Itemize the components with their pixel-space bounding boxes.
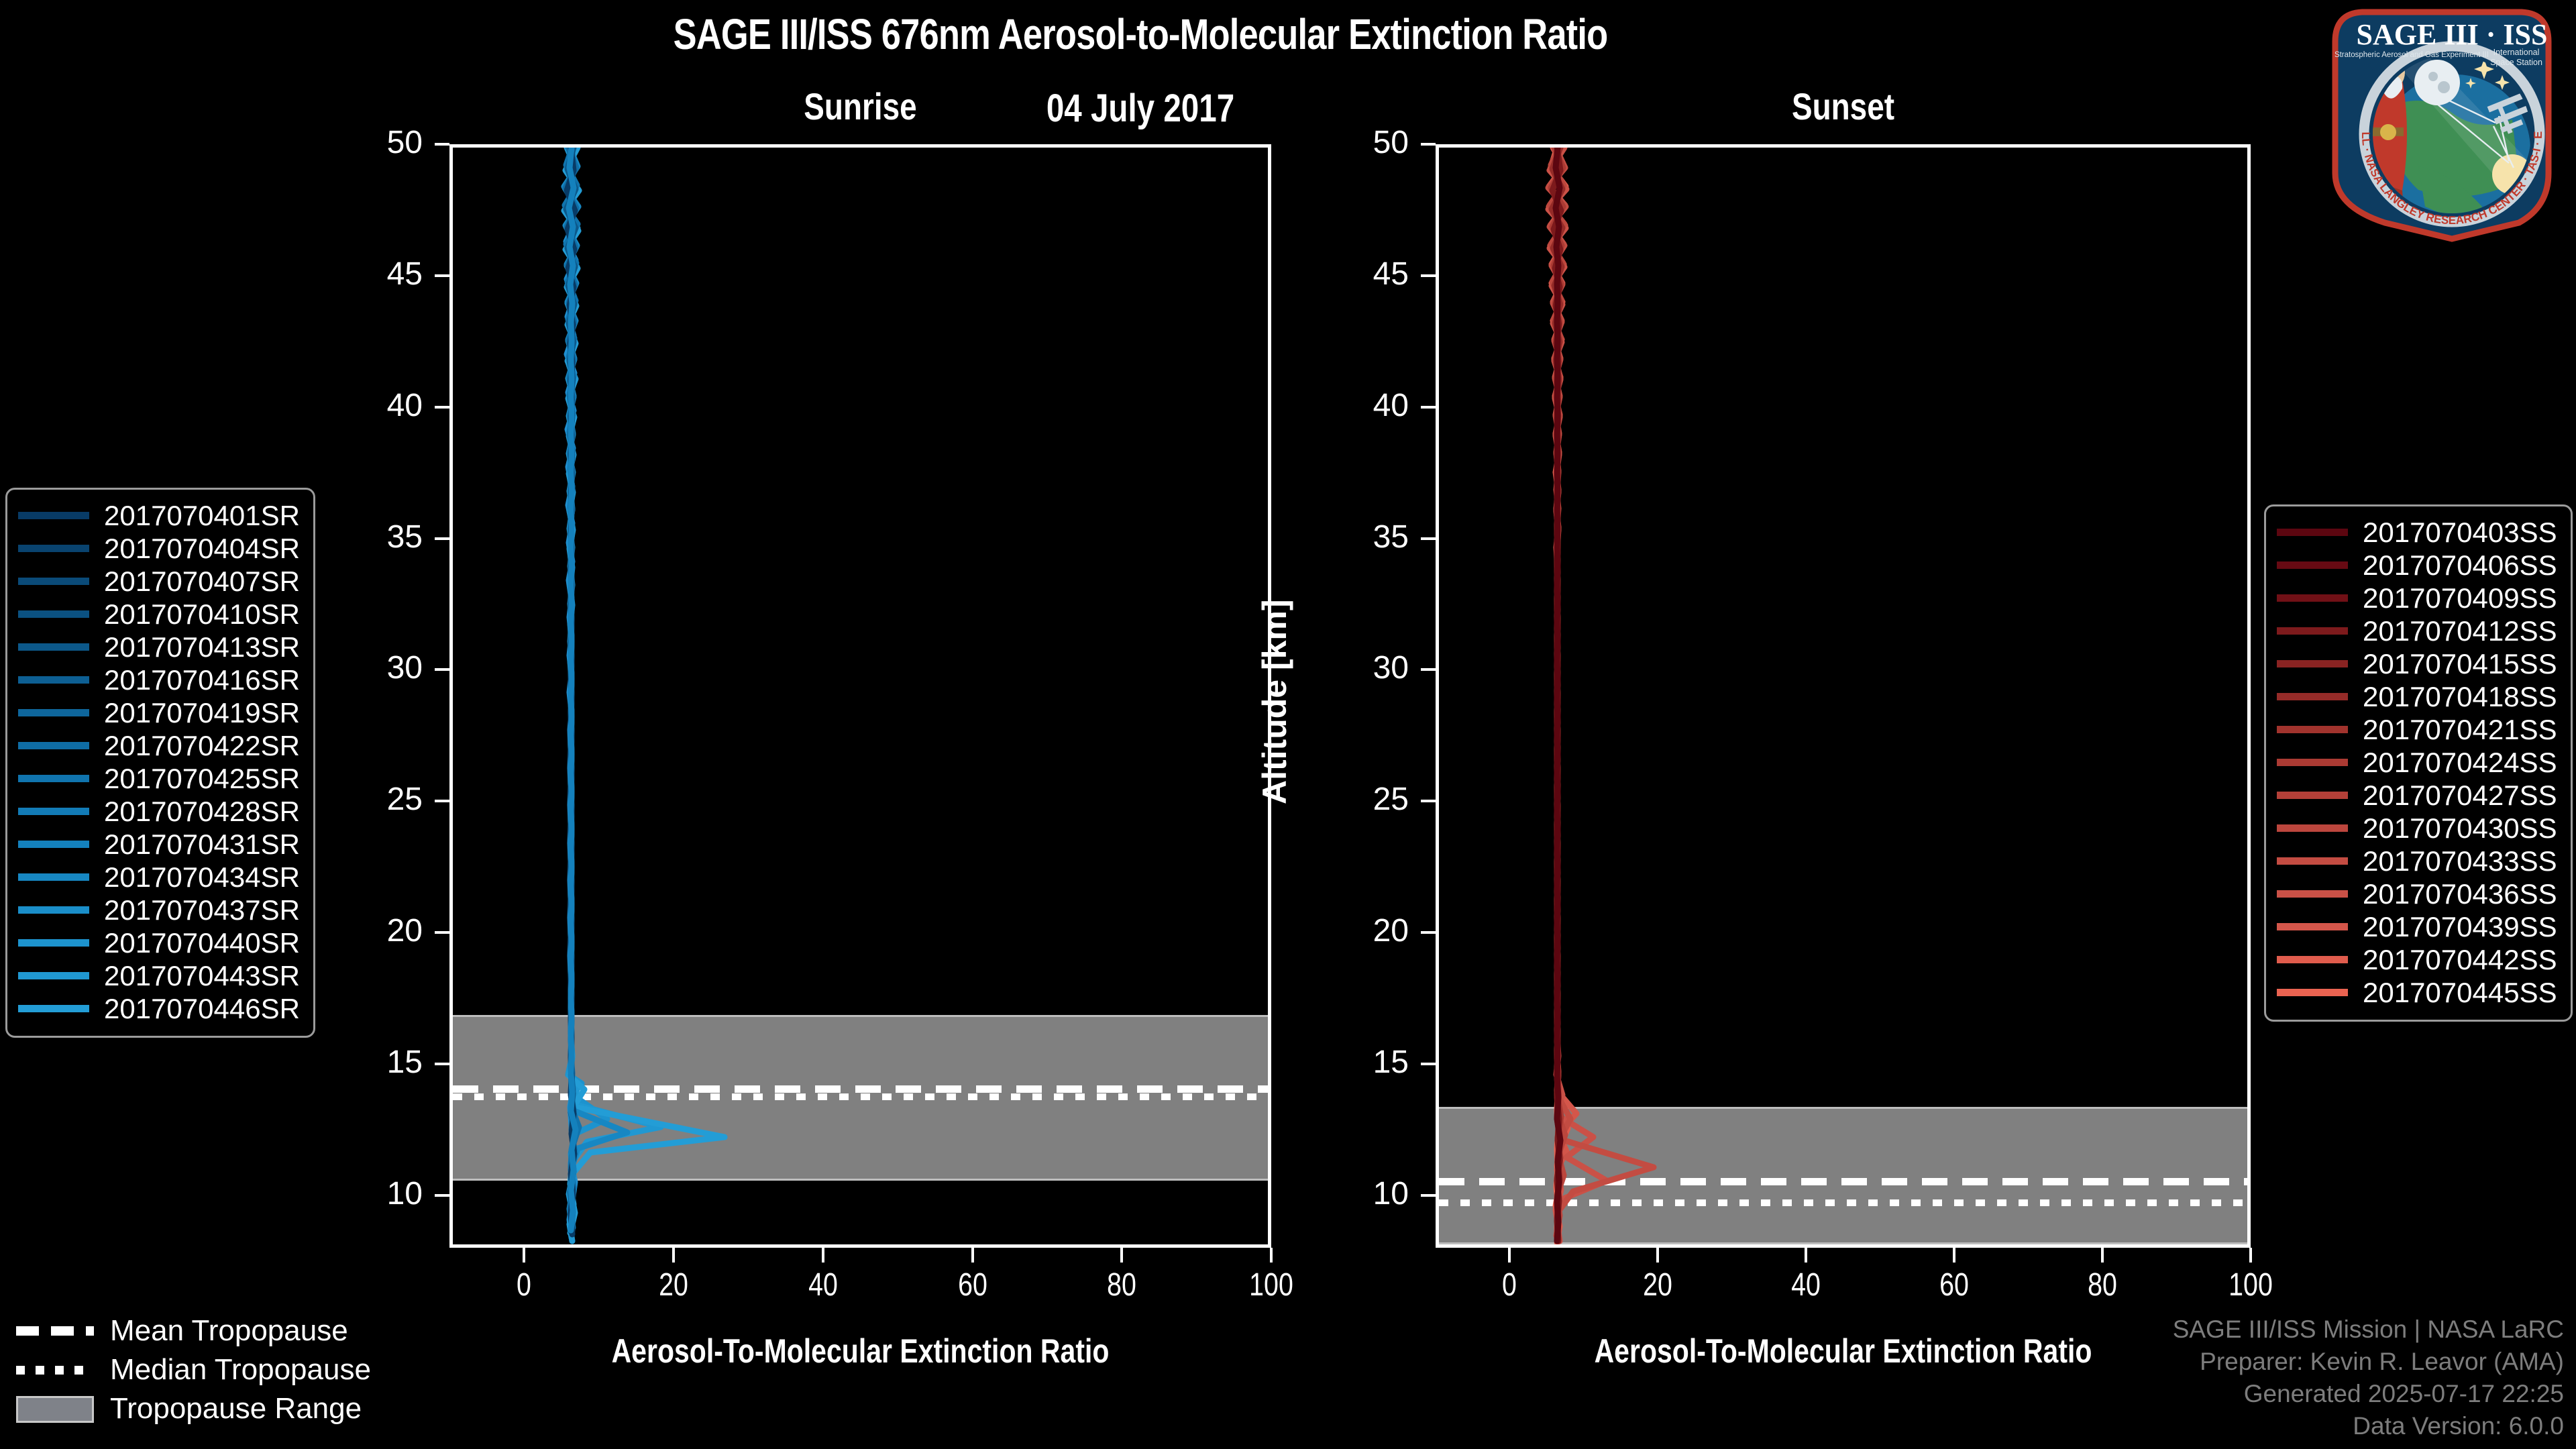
legend-label: 2017070425SR <box>104 763 300 795</box>
legend-color-swatch <box>2277 890 2348 898</box>
legend-item[interactable]: 2017070428SR <box>18 795 300 828</box>
sunrise-panel-title: Sunrise <box>523 85 1197 128</box>
y-axis-tick-label: 40 <box>1308 387 1409 424</box>
legend-color-swatch <box>18 709 89 716</box>
y-axis-tick <box>1421 1063 1436 1065</box>
legend-label: 2017070410SR <box>104 598 300 631</box>
credit-preparer: Preparer: Kevin R. Leavor (AMA) <box>2173 1346 2564 1378</box>
legend-item-median-tropopause: Median Tropopause <box>7 1350 371 1389</box>
legend-color-swatch <box>18 742 89 749</box>
legend-label: 2017070419SR <box>104 697 300 729</box>
legend-item[interactable]: 2017070407SR <box>18 565 300 598</box>
y-axis-tick-label: 30 <box>322 649 423 686</box>
legend-item[interactable]: 2017070418SS <box>2277 680 2557 713</box>
legend-color-swatch <box>18 939 89 947</box>
svg-text:SAGE III · ISS: SAGE III · ISS <box>2357 18 2548 51</box>
legend-color-swatch <box>18 545 89 552</box>
legend-label: 2017070406SS <box>2363 549 2557 582</box>
x-axis-tick <box>1953 1248 1955 1263</box>
legend-label: 2017070415SS <box>2363 648 2557 680</box>
y-axis-tick-label: 10 <box>322 1175 423 1212</box>
legend-label: 2017070403SS <box>2363 517 2557 549</box>
legend-color-swatch <box>2277 726 2348 733</box>
legend-item[interactable]: 2017070425SR <box>18 762 300 795</box>
legend-item[interactable]: 2017070440SR <box>18 926 300 959</box>
legend-label: 2017070409SS <box>2363 582 2557 614</box>
svg-text:Space Station: Space Station <box>2490 58 2542 67</box>
page-title: SAGE III/ISS 676nm Aerosol-to-Molecular … <box>205 9 2076 59</box>
legend-color-swatch <box>18 906 89 914</box>
y-axis-tick-label: 15 <box>322 1044 423 1081</box>
legend-item[interactable]: 2017070430SS <box>2277 812 2557 845</box>
y-axis-tick <box>435 668 449 671</box>
y-axis-tick-label: 20 <box>322 912 423 949</box>
x-axis-tick-label: 0 <box>486 1267 563 1303</box>
legend-label: 2017070427SS <box>2363 780 2557 812</box>
legend-label: 2017070401SR <box>104 500 300 532</box>
y-axis-tick <box>1421 668 1436 671</box>
legend-color-swatch <box>2277 989 2348 996</box>
y-axis-tick-label: 25 <box>1308 781 1409 818</box>
y-axis-tick <box>435 931 449 934</box>
y-axis-tick <box>1421 274 1436 277</box>
y-axis-tick-label: 25 <box>322 781 423 818</box>
legend-label: 2017070431SR <box>104 828 300 861</box>
legend-item[interactable]: 2017070404SR <box>18 532 300 565</box>
y-axis-tick <box>435 406 449 409</box>
legend-color-swatch <box>2277 561 2348 569</box>
legend-item[interactable]: 2017070436SS <box>2277 877 2557 910</box>
x-axis-tick-label: 0 <box>1471 1267 1548 1303</box>
legend-item[interactable]: 2017070446SR <box>18 992 300 1025</box>
legend-item[interactable]: 2017070401SR <box>18 499 300 532</box>
legend-item[interactable]: 2017070439SS <box>2277 910 2557 943</box>
legend-color-swatch <box>2277 594 2348 602</box>
legend-color-swatch <box>2277 627 2348 635</box>
y-axis-tick <box>1421 406 1436 409</box>
legend-label: 2017070433SS <box>2363 845 2557 877</box>
legend-color-swatch <box>2277 923 2348 930</box>
legend-item[interactable]: 2017070413SR <box>18 631 300 663</box>
legend-color-swatch <box>18 610 89 618</box>
legend-item-mean-tropopause: Mean Tropopause <box>7 1311 371 1350</box>
legend-label: 2017070428SR <box>104 796 300 828</box>
legend-label: 2017070445SS <box>2363 977 2557 1009</box>
legend-color-swatch <box>2277 857 2348 865</box>
y-axis-tick <box>1421 537 1436 540</box>
legend-color-swatch <box>18 972 89 979</box>
legend-color-swatch <box>18 873 89 881</box>
legend-item[interactable]: 2017070437SR <box>18 894 300 926</box>
x-axis-tick-label: 40 <box>784 1267 861 1303</box>
legend-color-swatch <box>2277 824 2348 832</box>
legend-color-swatch <box>18 808 89 815</box>
legend-color-swatch <box>18 841 89 848</box>
legend-label: 2017070443SR <box>104 960 300 992</box>
sunset-xaxis-label: Aerosol-To-Molecular Extinction Ratio <box>1509 1332 2177 1371</box>
legend-label: 2017070440SR <box>104 927 300 959</box>
svg-text:Stratospheric Aerosol and Gas: Stratospheric Aerosol and Gas Experiment… <box>2334 51 2489 59</box>
y-axis-tick-label: 35 <box>322 519 423 555</box>
y-axis-tick-label: 50 <box>1308 124 1409 161</box>
legend-item[interactable]: 2017070431SR <box>18 828 300 861</box>
x-axis-tick <box>2249 1248 2252 1263</box>
sunrise-legend[interactable]: 2017070401SR2017070404SR2017070407SR2017… <box>5 488 315 1038</box>
y-axis-tick-label: 40 <box>322 387 423 424</box>
legend-label: 2017070416SR <box>104 664 300 696</box>
legend-label: 2017070407SR <box>104 566 300 598</box>
x-axis-tick-label: 20 <box>635 1267 712 1303</box>
legend-label: 2017070418SS <box>2363 681 2557 713</box>
legend-color-swatch <box>18 676 89 684</box>
x-axis-tick-label: 60 <box>1916 1267 1993 1303</box>
dotted-line-icon <box>16 1361 94 1379</box>
legend-item-tropopause-range: Tropopause Range <box>7 1389 371 1428</box>
legend-color-swatch <box>2277 759 2348 766</box>
filled-box-icon <box>16 1400 94 1417</box>
legend-item[interactable]: 2017070445SS <box>2277 976 2557 1009</box>
legend-label: 2017070439SS <box>2363 911 2557 943</box>
y-axis-tick <box>1421 800 1436 802</box>
x-axis-tick-label: 40 <box>1768 1267 1845 1303</box>
x-axis-tick <box>523 1248 525 1263</box>
legend-label: 2017070436SS <box>2363 878 2557 910</box>
legend-label: 2017070413SR <box>104 631 300 663</box>
y-axis-tick-label: 50 <box>322 124 423 161</box>
legend-label: 2017070404SR <box>104 533 300 565</box>
sunset-profile-curves <box>1439 148 2247 1244</box>
x-axis-tick-label: 100 <box>2212 1267 2290 1303</box>
legend-color-swatch <box>2277 529 2348 536</box>
x-axis-tick <box>1120 1248 1123 1263</box>
legend-item[interactable]: 2017070412SS <box>2277 614 2557 647</box>
x-axis-tick <box>822 1248 824 1263</box>
sunset-panel-title: Sunset <box>1509 85 2177 128</box>
legend-color-swatch <box>18 512 89 519</box>
x-axis-tick-label: 100 <box>1233 1267 1310 1303</box>
x-axis-tick-label: 20 <box>1619 1267 1697 1303</box>
legend-color-swatch <box>2277 693 2348 700</box>
y-axis-tick <box>435 1194 449 1197</box>
legend-label: 2017070412SS <box>2363 615 2557 647</box>
credit-generated: Generated 2025-07-17 22:25 <box>2173 1378 2564 1410</box>
x-axis-tick <box>1270 1248 1273 1263</box>
legend-color-swatch <box>18 643 89 651</box>
legend-item[interactable]: 2017070409SS <box>2277 582 2557 614</box>
y-axis-tick-label: 45 <box>322 256 423 292</box>
legend-item[interactable]: 2017070424SS <box>2277 746 2557 779</box>
x-axis-tick <box>971 1248 974 1263</box>
legend-item[interactable]: 2017070434SR <box>18 861 300 894</box>
sunrise-xaxis-label: Aerosol-To-Molecular Extinction Ratio <box>523 1332 1197 1371</box>
legend-item[interactable]: 2017070443SR <box>18 959 300 992</box>
credit-mission: SAGE III/ISS Mission | NASA LaRC <box>2173 1313 2564 1346</box>
legend-label-mean-tropopause: Mean Tropopause <box>110 1314 348 1348</box>
y-axis-tick-label: 30 <box>1308 649 1409 686</box>
legend-color-swatch <box>2277 660 2348 667</box>
y-axis-tick <box>435 143 449 146</box>
y-axis-tick <box>435 800 449 802</box>
dashed-line-icon <box>16 1322 94 1340</box>
y-axis-tick-label: 20 <box>1308 912 1409 949</box>
legend-item[interactable]: 2017070416SR <box>18 663 300 696</box>
x-axis-tick <box>1508 1248 1511 1263</box>
sunrise-plot-area <box>449 144 1271 1248</box>
legend-label-tropopause-range: Tropopause Range <box>110 1392 362 1426</box>
y-axis-tick-label: 10 <box>1308 1175 1409 1212</box>
sage-iii-iss-mission-patch: SAGE III · ISS Stratospheric Aerosol and… <box>2318 5 2566 244</box>
y-axis-tick-label: 15 <box>1308 1044 1409 1081</box>
legend-label: 2017070422SR <box>104 730 300 762</box>
tropopause-legend: Mean Tropopause Median Tropopause Tropop… <box>7 1311 371 1428</box>
legend-label: 2017070446SR <box>104 993 300 1025</box>
y-axis-tick <box>435 274 449 277</box>
legend-item[interactable]: 2017070422SR <box>18 729 300 762</box>
y-axis-tick <box>1421 1194 1436 1197</box>
y-axis-tick-label: 45 <box>1308 256 1409 292</box>
legend-color-swatch <box>2277 792 2348 799</box>
legend-item[interactable]: 2017070421SS <box>2277 713 2557 746</box>
credits-block: SAGE III/ISS Mission | NASA LaRC Prepare… <box>2173 1313 2564 1442</box>
legend-label: 2017070421SS <box>2363 714 2557 746</box>
y-axis-tick <box>1421 143 1436 146</box>
x-axis-tick <box>2101 1248 2104 1263</box>
legend-item[interactable]: 2017070419SR <box>18 696 300 729</box>
sunset-legend[interactable]: 2017070403SS2017070406SS2017070409SS2017… <box>2264 504 2573 1022</box>
y-axis-tick-label: 35 <box>1308 519 1409 555</box>
legend-item[interactable]: 2017070427SS <box>2277 779 2557 812</box>
legend-label: 2017070434SR <box>104 861 300 894</box>
x-axis-tick <box>1805 1248 1807 1263</box>
legend-item[interactable]: 2017070406SS <box>2277 549 2557 582</box>
sunset-plot-area <box>1436 144 2251 1248</box>
legend-item[interactable]: 2017070442SS <box>2277 943 2557 976</box>
y-axis-tick <box>435 537 449 540</box>
legend-label: 2017070437SR <box>104 894 300 926</box>
svg-text:International: International <box>2493 48 2540 57</box>
legend-label: 2017070424SS <box>2363 747 2557 779</box>
sunrise-profile-curves <box>453 148 1268 1244</box>
legend-item[interactable]: 2017070403SS <box>2277 516 2557 549</box>
legend-color-swatch <box>18 578 89 585</box>
legend-color-swatch <box>18 1005 89 1012</box>
legend-label: 2017070430SS <box>2363 812 2557 845</box>
y-axis-tick <box>435 1063 449 1065</box>
legend-color-swatch <box>2277 956 2348 963</box>
x-axis-tick-label: 60 <box>934 1267 1011 1303</box>
sunset-yaxis-label: Altitude [km] <box>1255 603 1294 804</box>
x-axis-tick-label: 80 <box>1083 1267 1161 1303</box>
x-axis-tick <box>672 1248 675 1263</box>
legend-item[interactable]: 2017070410SR <box>18 598 300 631</box>
credit-data-version: Data Version: 6.0.0 <box>2173 1410 2564 1442</box>
y-axis-tick <box>1421 931 1436 934</box>
legend-item[interactable]: 2017070415SS <box>2277 647 2557 680</box>
legend-color-swatch <box>18 775 89 782</box>
legend-item[interactable]: 2017070433SS <box>2277 845 2557 877</box>
x-axis-tick <box>1656 1248 1659 1263</box>
legend-label-median-tropopause: Median Tropopause <box>110 1353 371 1387</box>
x-axis-tick-label: 80 <box>2064 1267 2141 1303</box>
legend-label: 2017070442SS <box>2363 944 2557 976</box>
